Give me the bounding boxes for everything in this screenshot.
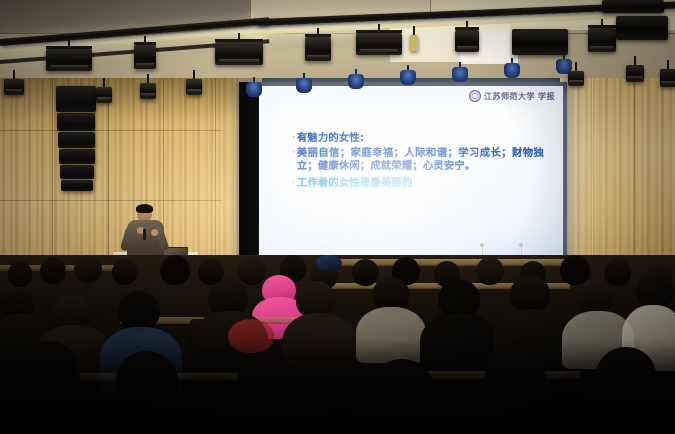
- audience-member: [572, 389, 675, 434]
- audience-member: [510, 275, 550, 313]
- stage-panel-light: [512, 29, 568, 55]
- audience-member: [92, 393, 208, 434]
- blue-wash-light: [348, 74, 364, 89]
- screen-left-border: [239, 82, 259, 268]
- audience-member: [576, 279, 614, 315]
- audience-member: [112, 259, 137, 285]
- lecture-hall-scene: 江苏师范大学 学报 · 有魅力的女性: · 美丽自信；家庭幸福；人际和谐；学习成…: [0, 0, 675, 434]
- stage-panel-light: [602, 0, 664, 13]
- blue-wash-light: [296, 78, 312, 93]
- bullet-marker-icon: ·: [292, 132, 295, 145]
- audience-member: [458, 395, 574, 434]
- blue-wash-light: [400, 70, 416, 85]
- blue-wash-light: [452, 67, 468, 82]
- blue-wash-light: [246, 82, 262, 97]
- audience-member: [228, 319, 274, 353]
- slide-bullet: · 美丽自信；家庭幸福；人际和谐；学习成长；财物独立；健康休闲；成就荣耀；心灵安…: [292, 147, 544, 173]
- audience-member: [636, 273, 674, 309]
- audience-member: [316, 255, 342, 271]
- audience-member: [74, 255, 102, 283]
- audience-member: [210, 397, 330, 434]
- stage-panel-light: [616, 16, 668, 40]
- seated-audience: [0, 255, 675, 434]
- audience-member: [8, 261, 32, 287]
- slide-bullet-text: 工作着的女性是最美丽的: [297, 177, 412, 190]
- audience-member: [344, 401, 462, 434]
- university-name: 江苏师范大学: [484, 91, 535, 102]
- slide-bullet: · 有魅力的女性:: [292, 132, 544, 145]
- bullet-marker-icon: ·: [292, 147, 295, 160]
- audience-member: [238, 257, 266, 285]
- slide-bullet-text: 美丽自信；家庭幸福；人际和谐；学习成长；财物独立；健康休闲；成就荣耀；心灵安宁。: [297, 147, 544, 173]
- projection-screen: 江苏师范大学 学报 · 有魅力的女性: · 美丽自信；家庭幸福；人际和谐；学习成…: [258, 86, 563, 263]
- university-logo: 江苏师范大学 学报: [469, 90, 555, 102]
- audience-member: [40, 257, 66, 284]
- blue-wash-light: [504, 63, 520, 78]
- audience-member: [118, 291, 160, 331]
- audience-member: [160, 255, 190, 285]
- slide-bullet: · 工作着的女性是最美丽的: [292, 177, 544, 190]
- bullet-marker-icon: ·: [292, 177, 295, 190]
- audience-member: [476, 257, 504, 285]
- line-array-loudspeaker: [56, 86, 96, 191]
- slide-bullet-list: · 有魅力的女性: · 美丽自信；家庭幸福；人际和谐；学习成长；财物独立；健康休…: [292, 132, 544, 192]
- university-seal-icon: [469, 90, 481, 102]
- logo-suffix: 学报: [538, 91, 555, 102]
- audience-member: [352, 259, 379, 286]
- audience-member: [604, 259, 631, 286]
- slide-bullet-text: 有魅力的女性:: [297, 132, 364, 145]
- audience-member: [420, 313, 498, 375]
- audience-member: [356, 307, 426, 363]
